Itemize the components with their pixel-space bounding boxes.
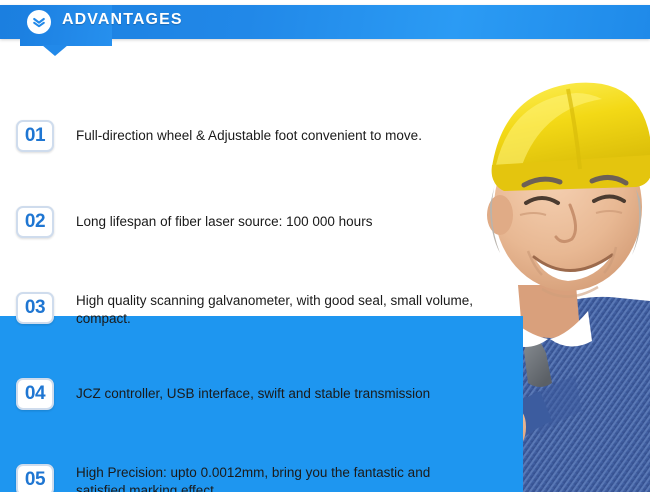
advantage-text: High quality scanning galvanometer, with… [76, 292, 476, 328]
double-chevron-down-icon [27, 10, 51, 34]
advantage-number-badge: 03 [16, 292, 54, 324]
advantage-number-badge: 04 [16, 378, 54, 410]
advantage-number-badge: 01 [16, 120, 54, 152]
advantage-number-badge: 02 [16, 206, 54, 238]
page-title: ADVANTAGES [62, 11, 183, 29]
advantages-infographic: ADVANTAGES 01 Full-direction wheel & Adj… [0, 0, 650, 492]
advantage-text: Long lifespan of fiber laser source: 100… [76, 213, 476, 231]
advantage-text: High Precision: upto 0.0012mm, bring you… [76, 464, 476, 492]
advantages-list: 01 Full-direction wheel & Adjustable foo… [0, 0, 650, 492]
advantage-text: JCZ controller, USB interface, swift and… [76, 385, 476, 403]
advantage-number-badge: 05 [16, 464, 54, 492]
advantage-text: Full-direction wheel & Adjustable foot c… [76, 127, 476, 145]
header-tab-pointer [42, 45, 68, 56]
